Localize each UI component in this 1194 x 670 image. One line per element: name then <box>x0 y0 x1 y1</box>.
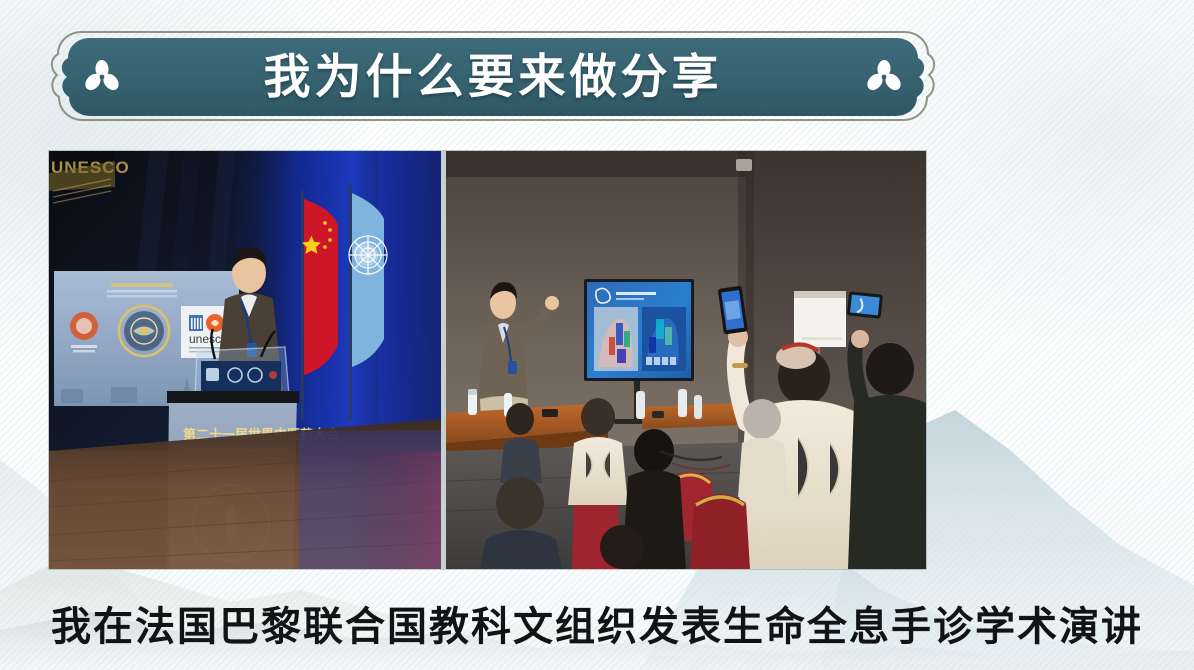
unesco-podium-photo: UNESCO <box>49 151 441 569</box>
slide-canvas: 我为什么要来做分享 <box>0 0 1194 670</box>
lecture-audience-photo <box>446 151 926 569</box>
page-title: 我为什么要来做分享 <box>46 28 940 124</box>
photo-gallery: UNESCO <box>49 151 926 569</box>
title-banner: 我为什么要来做分享 <box>46 28 940 124</box>
slide-caption: 我在法国巴黎联合国教科文组织发表生命全息手诊学术演讲 <box>0 590 1194 656</box>
